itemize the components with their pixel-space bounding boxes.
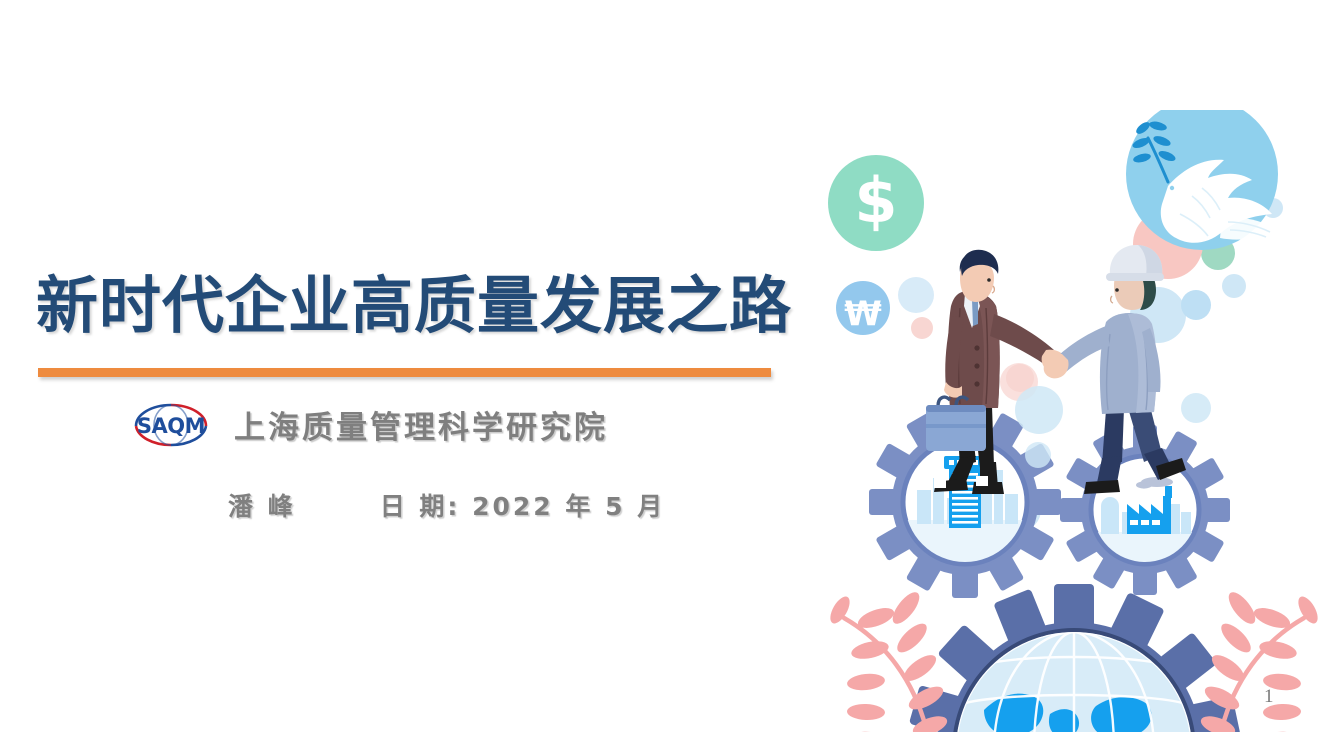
dove-tail	[1220, 218, 1278, 240]
byline-row: 潘 峰 日 期: 2022 年 5 月	[228, 487, 665, 523]
accent-circle-1	[898, 277, 934, 313]
world-globe-icon	[956, 632, 1192, 732]
saqm-logo: SAQM	[130, 400, 212, 448]
accent-circle-9	[1222, 274, 1246, 298]
presentation-date: 日 期: 2022 年 5 月	[380, 487, 666, 523]
saqm-logo-icon: SAQM	[130, 400, 212, 448]
accent-circle-2	[911, 317, 933, 339]
organization-row: SAQM 上海质量管理科学研究院	[130, 400, 608, 448]
accent-circle-6	[1181, 290, 1211, 320]
briefcase-icon	[926, 397, 986, 451]
accent-circle-13	[1015, 386, 1063, 434]
dollar-sign-glyph: $	[854, 164, 897, 237]
worker-figure	[1044, 245, 1186, 494]
title-underline-rule	[38, 368, 771, 377]
presenter-name: 潘 峰	[228, 487, 296, 523]
page-title: 新时代企业高质量发展之路	[36, 274, 796, 338]
accent-circle-14	[1025, 442, 1051, 468]
slide-canvas: 新时代企业高质量发展之路 SAQM 上海质量管理科学研究院 潘 峰 日 期	[0, 0, 1338, 732]
won-sign-glyph: ₩	[844, 294, 882, 334]
organization-name: 上海质量管理科学研究院	[234, 402, 608, 447]
page-number: 1	[1264, 686, 1274, 708]
illustration: $ ₩	[810, 110, 1338, 732]
accent-circle-15	[1181, 393, 1211, 423]
svg-text:SAQM: SAQM	[137, 414, 205, 438]
title-block: 新时代企业高质量发展之路	[36, 274, 796, 338]
